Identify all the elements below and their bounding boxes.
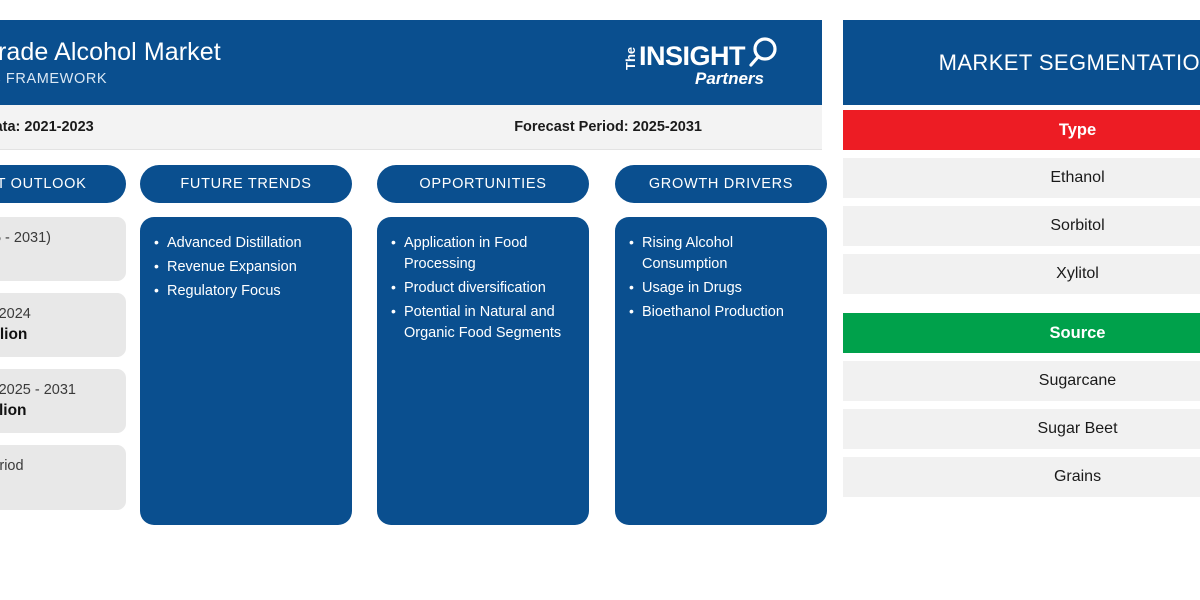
stat-label: CAGR (2025 - 2031)	[0, 229, 110, 247]
main-panel: Food Grade Alcohol Market STRATEGIC FRAM…	[0, 20, 822, 525]
bullet-item: Product diversification	[391, 278, 575, 299]
segment-category-source[interactable]: Source	[843, 313, 1200, 353]
bullet-item: Bioethanol Production	[629, 302, 813, 323]
column-future-trends: FUTURE TRENDS Advanced Distillation Reve…	[140, 165, 352, 525]
stat-value: US$ XX Million	[0, 402, 110, 420]
bullet-item: Revenue Expansion	[154, 257, 338, 278]
column-growth-drivers: GROWTH DRIVERS Rising Alcohol Consumptio…	[615, 165, 827, 525]
stat-label: Historical Period	[0, 457, 110, 475]
stat-box: Market Size 2025 - 2031 US$ XX Million	[0, 369, 126, 433]
column-market-outlook: MARKET OUTLOOK CAGR (2025 - 2031) XX.9% …	[0, 165, 126, 510]
bullet-card: Advanced Distillation Revenue Expansion …	[140, 217, 352, 525]
bullet-item: Rising Alcohol Consumption	[629, 233, 813, 275]
bullet-item: Usage in Drugs	[629, 278, 813, 299]
segmentation-rows: Type Ethanol Sorbitol Xylitol Source Sug…	[843, 110, 1200, 497]
forecast-period-label: Forecast Period: 2025-2031	[514, 119, 702, 135]
segment-item[interactable]: Ethanol	[843, 158, 1200, 198]
stat-box: Historical Period 2021-2023	[0, 445, 126, 509]
historical-data-label: Historical Data: 2021-2023	[0, 119, 94, 135]
svg-text:Partners: Partners	[695, 69, 764, 88]
segmentation-title: MARKET SEGMENTATION	[843, 20, 1200, 105]
insight-partners-logo-icon: The INSIGHT Partners	[613, 32, 788, 94]
svg-text:INSIGHT: INSIGHT	[639, 41, 746, 71]
bullet-list: Advanced Distillation Revenue Expansion …	[154, 233, 338, 302]
column-opportunities: OPPORTUNITIES Application in Food Proces…	[377, 165, 589, 525]
stat-box: CAGR (2025 - 2031) XX.9%	[0, 217, 126, 281]
segment-item[interactable]: Sugarcane	[843, 361, 1200, 401]
segment-item[interactable]: Sugar Beet	[843, 409, 1200, 449]
bullet-list: Rising Alcohol Consumption Usage in Drug…	[629, 233, 813, 323]
stat-label: Market Size 2024	[0, 305, 110, 323]
page-title: Food Grade Alcohol Market	[0, 38, 221, 67]
bullet-item: Potential in Natural and Organic Food Se…	[391, 302, 575, 344]
bullet-list: Application in Food Processing Product d…	[391, 233, 575, 343]
columns-area: MARKET OUTLOOK CAGR (2025 - 2031) XX.9% …	[0, 165, 822, 525]
stat-value: XX.9%	[0, 250, 110, 268]
column-header-pill[interactable]: GROWTH DRIVERS	[615, 165, 827, 203]
segment-item[interactable]: Sorbitol	[843, 206, 1200, 246]
infographic-graphic: Food Grade Alcohol Market STRATEGIC FRAM…	[0, 20, 1200, 525]
title-group: Food Grade Alcohol Market STRATEGIC FRAM…	[0, 38, 221, 87]
bullet-card: Application in Food Processing Product d…	[377, 217, 589, 525]
segment-item[interactable]: Xylitol	[843, 254, 1200, 294]
stat-list: CAGR (2025 - 2031) XX.9% Market Size 202…	[0, 217, 126, 510]
column-header-pill[interactable]: MARKET OUTLOOK	[0, 165, 126, 203]
stat-label: Market Size 2025 - 2031	[0, 381, 110, 399]
infographic-canvas: Food Grade Alcohol Market STRATEGIC FRAM…	[0, 0, 1200, 600]
svg-text:The: The	[623, 46, 638, 69]
column-header-pill[interactable]: FUTURE TRENDS	[140, 165, 352, 203]
segment-item[interactable]: Grains	[843, 457, 1200, 497]
stat-value: 2021-2023	[0, 479, 110, 497]
bullet-item: Regulatory Focus	[154, 281, 338, 302]
page-subtitle: STRATEGIC FRAMEWORK	[0, 71, 221, 87]
bullet-card: Rising Alcohol Consumption Usage in Drug…	[615, 217, 827, 525]
column-header-pill[interactable]: OPPORTUNITIES	[377, 165, 589, 203]
stat-box: Market Size 2024 US$ XX million	[0, 293, 126, 357]
segment-category-type[interactable]: Type	[843, 110, 1200, 150]
bullet-item: Advanced Distillation	[154, 233, 338, 254]
stat-value: US$ XX million	[0, 326, 110, 344]
segment-group-divider	[843, 302, 1200, 313]
segmentation-panel: MARKET SEGMENTATION Type Ethanol Sorbito…	[843, 20, 1200, 525]
title-bar: Food Grade Alcohol Market STRATEGIC FRAM…	[0, 20, 822, 105]
period-strip: Historical Data: 2021-2023 Forecast Peri…	[0, 105, 822, 150]
bullet-item: Application in Food Processing	[391, 233, 575, 275]
